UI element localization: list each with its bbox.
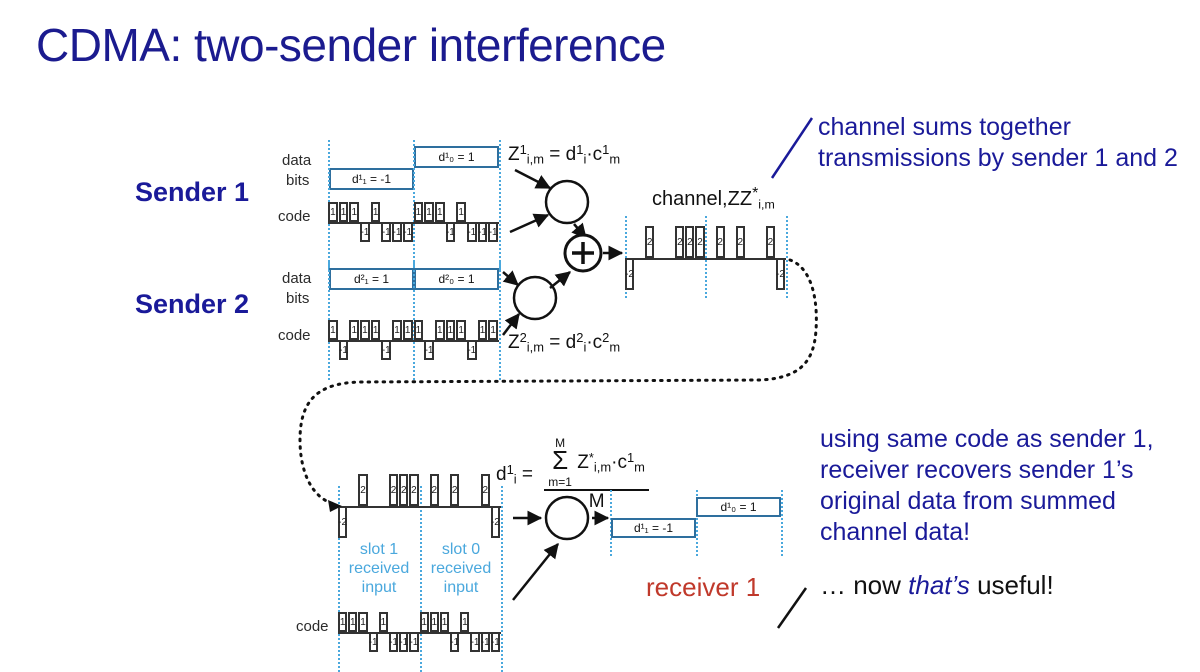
sender-2-bit-0: d²₀ = 1 (414, 268, 499, 290)
channel-chip: 2 (766, 226, 775, 258)
sender-2-code-chip: 1 (392, 320, 402, 340)
sender-1-label: Sender 1 (135, 177, 249, 208)
sender-2-code-chip: -1 (467, 340, 477, 360)
receiver-code-chip: 1 (358, 612, 367, 632)
slot-1-label: slot 1 received input (338, 540, 420, 597)
receiver-code-chip: -1 (389, 632, 398, 652)
receiver-code-chip: 1 (460, 612, 469, 632)
slot-0-label: slot 0 received input (420, 540, 502, 597)
sender-1-bit-1: d¹₁ = -1 (329, 168, 414, 190)
sender-2-multiply-node (514, 277, 556, 319)
sender-1-data-label-line1: data (282, 152, 311, 169)
slot-divider (781, 490, 783, 556)
callout-bottom-pointer (778, 588, 806, 628)
callout-punchline: … now that’s useful! (820, 570, 1054, 601)
sender-2-code-chip: 1 (435, 320, 445, 340)
slot-0-line1: slot 0 (442, 541, 480, 558)
receiver-code-waveform: 111-11-1-1-1111-11-1-1-1 (338, 610, 501, 654)
sender-2-code-chip: -1 (424, 340, 434, 360)
receiver-1-label: receiver 1 (646, 572, 760, 603)
channel-chip: 2 (695, 226, 704, 258)
receiver-code-chip: -1 (369, 632, 378, 652)
sender-1-data-label-line2: bits (286, 172, 309, 189)
receiver-input-chip: 2 (450, 474, 459, 506)
receiver-formula: d1i = M Σ m=1 Z*i,m·c1m M (496, 436, 649, 513)
receiver-input-chip: 2 (409, 474, 418, 506)
channel-chip: 2 (675, 226, 684, 258)
sender-1-code-chip: 1 (435, 202, 445, 222)
channel-label-main: channel,Z (652, 188, 740, 210)
receiver-code-chip: 1 (440, 612, 449, 632)
sender-2-bit-1: d²₁ = 1 (329, 268, 414, 290)
sender-1-code-chip: 1 (414, 202, 424, 222)
channel-chip: 2 (736, 226, 745, 258)
sender-2-code-chip: -1 (339, 340, 349, 360)
sender-1-code-chip: 1 (328, 202, 338, 222)
receiver-input-chip: 2 (430, 474, 439, 506)
punchline-post: useful! (970, 570, 1054, 600)
sender-1-code-chip: -1 (360, 222, 370, 242)
slot-divider (499, 262, 501, 380)
sender-1-formula: Z1i,m = d1i·c1m (508, 142, 620, 166)
receiver-code-chip: -1 (409, 632, 418, 652)
sender-2-code-chip: 1 (414, 320, 424, 340)
sender-1-code-chip: 1 (349, 202, 359, 222)
slot-divider (786, 216, 788, 298)
slot-0-line3: input (444, 579, 479, 596)
slot-divider (499, 140, 501, 270)
sigma-lower-limit: m=1 (548, 475, 572, 489)
channel-sum-node (565, 235, 601, 271)
sender-2-formula: Z2i,m = d2i·c2m (508, 330, 620, 354)
receiver-code-chip: -1 (399, 632, 408, 652)
channel-chip: 2 (645, 226, 654, 258)
sender-2-code-chip: 1 (360, 320, 370, 340)
receiver-code-chip: -1 (450, 632, 459, 652)
receiver-code-label: code (296, 618, 329, 635)
sender-2-code-chip: -1 (381, 340, 391, 360)
sender-2-code-chip: 1 (478, 320, 488, 340)
sender-1-code-chip: -1 (381, 222, 391, 242)
receiver-code-chip: 1 (338, 612, 347, 632)
receiver-code-chip: -1 (491, 632, 500, 652)
callout-bottom: using same code as sender 1, receiver re… (820, 424, 1190, 548)
channel-chip: 2 (685, 226, 694, 258)
sender-2-data-label-line2: bits (286, 290, 309, 307)
sender-1-code-chip: 1 (339, 202, 349, 222)
sender-2-code-chip: 1 (328, 320, 338, 340)
sender-1-code-chip: 1 (456, 202, 466, 222)
receiver-code-chip: -1 (481, 632, 490, 652)
receiver-code-chip: 1 (348, 612, 357, 632)
sender-1-bit-0: d¹₀ = 1 (414, 146, 499, 168)
sender-1-code-waveform: 111-11-1-1-1111-11-1-1-1 (328, 200, 499, 244)
sender-1-code-chip: 1 (371, 202, 381, 222)
channel-chip: -2 (776, 258, 785, 290)
sender-1-code-chip: 1 (424, 202, 434, 222)
receiver-output-bit-0: d¹₀ = 1 (696, 497, 781, 517)
receiver-input-chip: -2 (338, 506, 347, 538)
channel-waveform: -22222222-2 (625, 222, 786, 294)
sender-2-code-label: code (278, 327, 311, 344)
receiver-input-chip: 2 (399, 474, 408, 506)
slot-1-line2: received (349, 560, 409, 577)
sender-1-code-chip: -1 (403, 222, 413, 242)
sender-2-code-chip: 1 (456, 320, 466, 340)
callout-top: channel sums together transmissions by s… (818, 112, 1198, 174)
page-title: CDMA: two-sender interference (36, 18, 666, 72)
sender-1-code-chip: -1 (446, 222, 456, 242)
receiver-code-chip: 1 (379, 612, 388, 632)
receiver-code-chip: -1 (470, 632, 479, 652)
receiver-code-chip: 1 (420, 612, 429, 632)
sender-2-label: Sender 2 (135, 289, 249, 320)
formula-denominator: M (544, 491, 649, 513)
callout-top-pointer (772, 118, 812, 178)
receiver-output-bit-1: d¹₁ = -1 (611, 518, 696, 538)
receiver-input-chip: 2 (389, 474, 398, 506)
sender-2-code-chip: 1 (446, 320, 456, 340)
channel-label: channel,ZZ*i,m (652, 185, 775, 212)
punchline-italic: that’s (908, 570, 970, 600)
slot-0-line2: received (431, 560, 491, 577)
receiver-code-chip: 1 (430, 612, 439, 632)
sender-1-code-chip: -1 (467, 222, 477, 242)
receiver-input-chip: 2 (358, 474, 367, 506)
slot-1-line3: input (362, 579, 397, 596)
sender-1-code-chip: -1 (478, 222, 488, 242)
receiver-input-waveform: -22222222-2 (338, 470, 501, 542)
sender-2-data-label-line1: data (282, 270, 311, 287)
receiver-input-chip: 2 (481, 474, 490, 506)
sender-2-code-chip: 1 (371, 320, 381, 340)
sender-1-multiply-node (546, 181, 588, 223)
sender-1-code-chip: -1 (488, 222, 498, 242)
sender-2-code-chip: 1 (403, 320, 413, 340)
sender-1-code-chip: -1 (392, 222, 402, 242)
punchline-pre: … now (820, 570, 908, 600)
channel-chip: -2 (625, 258, 634, 290)
sender-1-code-label: code (278, 208, 311, 225)
channel-chip: 2 (716, 226, 725, 258)
sender-2-code-chip: 1 (349, 320, 359, 340)
sender-2-code-waveform: 1-1111-1111-1111-111 (328, 318, 499, 362)
slot-1-line1: slot 1 (360, 541, 398, 558)
sender-2-code-chip: 1 (488, 320, 498, 340)
